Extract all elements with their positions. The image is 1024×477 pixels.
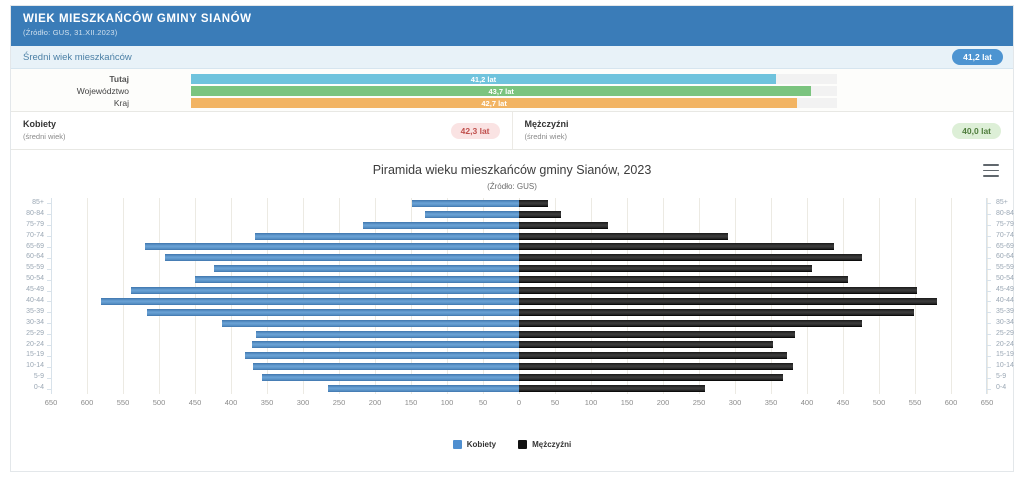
- bar-mezczyzni[interactable]: [519, 309, 914, 316]
- pyramid-row: [51, 350, 987, 361]
- x-axis-tick-label: 50: [479, 398, 487, 407]
- y-axis-label: 85+: [989, 198, 1023, 209]
- y-axis-label: 70-74: [15, 231, 49, 242]
- y-axis-tickmark: [47, 247, 51, 248]
- comparison-value: 43,7 lat: [489, 87, 514, 96]
- y-axis-label: 0-4: [15, 383, 49, 394]
- y-axis-tickmark: [47, 269, 51, 270]
- bar-kobiety[interactable]: [214, 265, 519, 272]
- pyramid-row: [51, 274, 987, 285]
- y-axis-tickmark: [987, 389, 991, 390]
- bar-mezczyzni[interactable]: [519, 287, 917, 294]
- y-axis-label: 35-39: [989, 307, 1023, 318]
- x-axis-tick-label: 500: [153, 398, 166, 407]
- x-axis-tick-label: 50: [551, 398, 559, 407]
- x-axis-tick-label: 100: [585, 398, 598, 407]
- y-axis-label: 65-69: [989, 242, 1023, 253]
- y-axis-label: 80-84: [15, 209, 49, 220]
- gender-text: Mężczyźni(średni wiek): [525, 119, 569, 142]
- pyramid-row: [51, 307, 987, 318]
- bar-kobiety[interactable]: [195, 276, 519, 283]
- chart-legend: KobietyMężczyźni: [11, 440, 1013, 449]
- y-axis-tickmark: [47, 345, 51, 346]
- comparison-track: 42,7 lat: [191, 98, 837, 108]
- y-axis-tickmark: [987, 258, 991, 259]
- pyramid-row: [51, 296, 987, 307]
- y-axis-label: 45-49: [989, 285, 1023, 296]
- y-axis-label: 70-74: [989, 231, 1023, 242]
- bar-kobiety[interactable]: [147, 309, 519, 316]
- gender-name: Mężczyźni: [525, 119, 569, 130]
- y-axis-label: 75-79: [15, 220, 49, 231]
- bar-mezczyzni[interactable]: [519, 320, 862, 327]
- bar-mezczyzni[interactable]: [519, 233, 728, 240]
- y-axis-label: 5-9: [15, 372, 49, 383]
- pyramid-row: [51, 242, 987, 253]
- gender-sublabel: (średni wiek): [525, 131, 569, 142]
- comparison-bar: 43,7 lat: [191, 86, 811, 96]
- x-axis-tick-label: 650: [45, 398, 58, 407]
- gridline: [987, 198, 988, 394]
- pyramid-row: [51, 198, 987, 209]
- legend-label: Kobiety: [467, 440, 496, 449]
- average-age-subheader: Średni wiek mieszkańców 41,2 lat: [11, 46, 1013, 69]
- pyramid-row: [51, 252, 987, 263]
- legend-label: Mężczyźni: [532, 440, 571, 449]
- pyramid-row: [51, 285, 987, 296]
- gender-sublabel: (średni wiek): [23, 131, 66, 142]
- bar-mezczyzni[interactable]: [519, 298, 937, 305]
- pyramid-row: [51, 209, 987, 220]
- bar-mezczyzni[interactable]: [519, 363, 793, 370]
- bar-mezczyzni[interactable]: [519, 222, 608, 229]
- x-axis-tick-label: 350: [765, 398, 778, 407]
- bar-kobiety[interactable]: [363, 222, 519, 229]
- x-axis-tick-label: 500: [873, 398, 886, 407]
- legend-item[interactable]: Mężczyźni: [518, 440, 571, 449]
- bar-mezczyzni[interactable]: [519, 385, 705, 392]
- y-axis-tickmark: [47, 312, 51, 313]
- page-title: WIEK MIESZKAŃCÓW GMINY SIANÓW: [23, 12, 1013, 26]
- bar-kobiety[interactable]: [256, 331, 519, 338]
- y-axis-label: 25-29: [15, 329, 49, 340]
- y-axis-tickmark: [987, 312, 991, 313]
- bar-kobiety[interactable]: [425, 211, 519, 218]
- y-axis-label: 55-59: [989, 263, 1023, 274]
- y-axis-label: 15-19: [989, 350, 1023, 361]
- gender-value-badge: 40,0 lat: [952, 123, 1001, 139]
- y-axis-label: 65-69: [15, 242, 49, 253]
- comparison-label: Tutaj: [11, 74, 191, 84]
- comparison-label: Kraj: [11, 98, 191, 108]
- plot-inner: 85+85+80-8480-8475-7975-7970-7470-7465-6…: [51, 198, 987, 394]
- x-axis-tick-label: 300: [729, 398, 742, 407]
- y-axis-tickmark: [47, 367, 51, 368]
- y-axis-label: 20-24: [989, 340, 1023, 351]
- chart-title: Piramida wieku mieszkańców gminy Sianów,…: [11, 150, 1013, 178]
- y-axis-label: 25-29: [989, 329, 1023, 340]
- x-axis-tick-label: 350: [261, 398, 274, 407]
- y-axis-tickmark: [987, 236, 991, 237]
- gender-average-row: Kobiety(średni wiek)42,3 latMężczyźni(śr…: [11, 112, 1013, 150]
- x-axis-tick-label: 100: [441, 398, 454, 407]
- y-axis-tickmark: [987, 323, 991, 324]
- y-axis-tickmark: [47, 225, 51, 226]
- pyramid-row: [51, 263, 987, 274]
- y-axis-label: 60-64: [989, 252, 1023, 263]
- comparison-row: Województwo43,7 lat: [11, 86, 1013, 96]
- comparison-value: 42,7 lat: [481, 99, 506, 108]
- legend-item[interactable]: Kobiety: [453, 440, 496, 449]
- y-axis-tickmark: [987, 225, 991, 226]
- comparison-track: 43,7 lat: [191, 86, 837, 96]
- widget-header: WIEK MIESZKAŃCÓW GMINY SIANÓW (Źródło: G…: [11, 6, 1013, 46]
- header-source: (Źródło: GUS, 31.XII.2023): [23, 27, 1013, 39]
- bar-mezczyzni[interactable]: [519, 341, 773, 348]
- y-axis-tickmark: [987, 345, 991, 346]
- bar-kobiety[interactable]: [412, 200, 519, 207]
- y-axis-tickmark: [47, 214, 51, 215]
- gender-average-cell: Kobiety(średni wiek)42,3 lat: [11, 112, 512, 149]
- y-axis-label: 55-59: [15, 263, 49, 274]
- y-axis-label: 20-24: [15, 340, 49, 351]
- x-axis-tick-label: 450: [189, 398, 202, 407]
- bar-mezczyzni[interactable]: [519, 254, 862, 261]
- gender-value-badge: 42,3 lat: [451, 123, 500, 139]
- hamburger-menu-icon[interactable]: [983, 164, 999, 177]
- legend-swatch-icon: [518, 440, 527, 449]
- bar-kobiety[interactable]: [145, 243, 519, 250]
- bar-kobiety[interactable]: [252, 341, 519, 348]
- y-axis-tickmark: [47, 301, 51, 302]
- gender-average-cell: Mężczyźni(średni wiek)40,0 lat: [512, 112, 1014, 149]
- y-axis-label: 60-64: [15, 252, 49, 263]
- average-age-label: Średni wiek mieszkańców: [23, 52, 132, 63]
- y-axis-label: 40-44: [989, 296, 1023, 307]
- x-axis-ticks: 6506005505004504003503002502001501005005…: [51, 398, 987, 412]
- pyramid-row: [51, 318, 987, 329]
- y-axis-label: 50-54: [989, 274, 1023, 285]
- comparison-row: Kraj42,7 lat: [11, 98, 1013, 108]
- average-age-comparison: Tutaj41,2 latWojewództwo43,7 latKraj42,7…: [11, 69, 1013, 112]
- x-axis-tick-label: 550: [117, 398, 130, 407]
- x-axis-tick-label: 150: [621, 398, 634, 407]
- bar-mezczyzni[interactable]: [519, 352, 787, 359]
- plot-area: 85+85+80-8480-8475-7975-7970-7470-7465-6…: [11, 198, 1013, 428]
- y-axis-tickmark: [987, 334, 991, 335]
- bar-kobiety[interactable]: [255, 233, 519, 240]
- hamburger-line: [983, 175, 999, 177]
- hamburger-line: [983, 164, 999, 166]
- y-axis-tickmark: [987, 301, 991, 302]
- x-axis-tick-label: 450: [837, 398, 850, 407]
- comparison-track: 41,2 lat: [191, 74, 837, 84]
- x-axis-tick-label: 200: [369, 398, 382, 407]
- y-axis-tickmark: [987, 247, 991, 248]
- comparison-value: 41,2 lat: [471, 75, 496, 84]
- pyramid-row: [51, 329, 987, 340]
- pyramid-row: [51, 361, 987, 372]
- x-axis-tick-label: 650: [981, 398, 994, 407]
- y-axis-label: 75-79: [989, 220, 1023, 231]
- bar-kobiety[interactable]: [262, 374, 519, 381]
- bar-kobiety[interactable]: [101, 298, 519, 305]
- y-axis-label: 10-14: [989, 361, 1023, 372]
- bar-kobiety[interactable]: [131, 287, 519, 294]
- gender-name: Kobiety: [23, 119, 66, 130]
- bar-mezczyzni[interactable]: [519, 211, 561, 218]
- y-axis-tickmark: [47, 203, 51, 204]
- bar-kobiety[interactable]: [253, 363, 519, 370]
- y-axis-tickmark: [987, 203, 991, 204]
- y-axis-tickmark: [47, 291, 51, 292]
- x-axis-tick-label: 600: [81, 398, 94, 407]
- y-axis-label: 15-19: [15, 350, 49, 361]
- y-axis-label: 35-39: [15, 307, 49, 318]
- y-axis-tickmark: [987, 367, 991, 368]
- pyramid-row: [51, 231, 987, 242]
- bar-mezczyzni[interactable]: [519, 331, 795, 338]
- bar-kobiety[interactable]: [245, 352, 519, 359]
- y-axis-label: 5-9: [989, 372, 1023, 383]
- bar-mezczyzni[interactable]: [519, 265, 812, 272]
- y-axis-label: 85+: [15, 198, 49, 209]
- pyramid-row: [51, 340, 987, 351]
- comparison-bar: 41,2 lat: [191, 74, 776, 84]
- x-axis-tick-label: 600: [945, 398, 958, 407]
- bar-kobiety[interactable]: [328, 385, 519, 392]
- y-axis-tickmark: [987, 269, 991, 270]
- y-axis-label: 10-14: [15, 361, 49, 372]
- y-axis-tickmark: [987, 214, 991, 215]
- bar-kobiety[interactable]: [165, 254, 519, 261]
- y-axis-tickmark: [47, 323, 51, 324]
- legend-swatch-icon: [453, 440, 462, 449]
- y-axis-tickmark: [987, 356, 991, 357]
- x-axis-tick-label: 0: [517, 398, 521, 407]
- chart-subtitle: (Źródło: GUS): [11, 181, 1013, 193]
- pyramid-row: [51, 383, 987, 394]
- y-axis-tickmark: [47, 356, 51, 357]
- y-axis-label: 80-84: [989, 209, 1023, 220]
- population-pyramid-chart: Piramida wieku mieszkańców gminy Sianów,…: [11, 150, 1013, 470]
- y-axis-label: 40-44: [15, 296, 49, 307]
- page-root: WIEK MIESZKAŃCÓW GMINY SIANÓW (Źródło: G…: [0, 0, 1024, 477]
- x-axis-tick-label: 300: [297, 398, 310, 407]
- gender-text: Kobiety(średni wiek): [23, 119, 66, 142]
- bar-mezczyzni[interactable]: [519, 200, 548, 207]
- y-axis-label: 45-49: [15, 285, 49, 296]
- hamburger-line: [983, 170, 999, 172]
- x-axis-tick-label: 400: [801, 398, 814, 407]
- bar-kobiety[interactable]: [222, 320, 519, 327]
- y-axis-tickmark: [47, 334, 51, 335]
- x-axis-tick-label: 250: [693, 398, 706, 407]
- x-axis-tick-label: 550: [909, 398, 922, 407]
- x-axis-tick-label: 150: [405, 398, 418, 407]
- y-axis-label: 50-54: [15, 274, 49, 285]
- y-axis-tickmark: [987, 291, 991, 292]
- x-axis-tick-label: 250: [333, 398, 346, 407]
- pyramid-row: [51, 220, 987, 231]
- y-axis-tickmark: [47, 389, 51, 390]
- y-axis-tickmark: [47, 258, 51, 259]
- bar-mezczyzni[interactable]: [519, 374, 783, 381]
- y-axis-label: 30-34: [989, 318, 1023, 329]
- y-axis-tickmark: [47, 378, 51, 379]
- x-axis-tick-label: 400: [225, 398, 238, 407]
- y-axis-tickmark: [987, 378, 991, 379]
- y-axis-tickmark: [987, 280, 991, 281]
- widget-card: WIEK MIESZKAŃCÓW GMINY SIANÓW (Źródło: G…: [10, 5, 1014, 472]
- comparison-bar: 42,7 lat: [191, 98, 797, 108]
- average-age-badge: 41,2 lat: [952, 49, 1003, 65]
- x-axis-tick-label: 200: [657, 398, 670, 407]
- comparison-label: Województwo: [11, 86, 191, 96]
- y-axis-label: 30-34: [15, 318, 49, 329]
- bar-mezczyzni[interactable]: [519, 276, 848, 283]
- bar-mezczyzni[interactable]: [519, 243, 834, 250]
- comparison-row: Tutaj41,2 lat: [11, 74, 1013, 84]
- y-axis-tickmark: [47, 280, 51, 281]
- y-axis-label: 0-4: [989, 383, 1023, 394]
- pyramid-row: [51, 372, 987, 383]
- y-axis-tickmark: [47, 236, 51, 237]
